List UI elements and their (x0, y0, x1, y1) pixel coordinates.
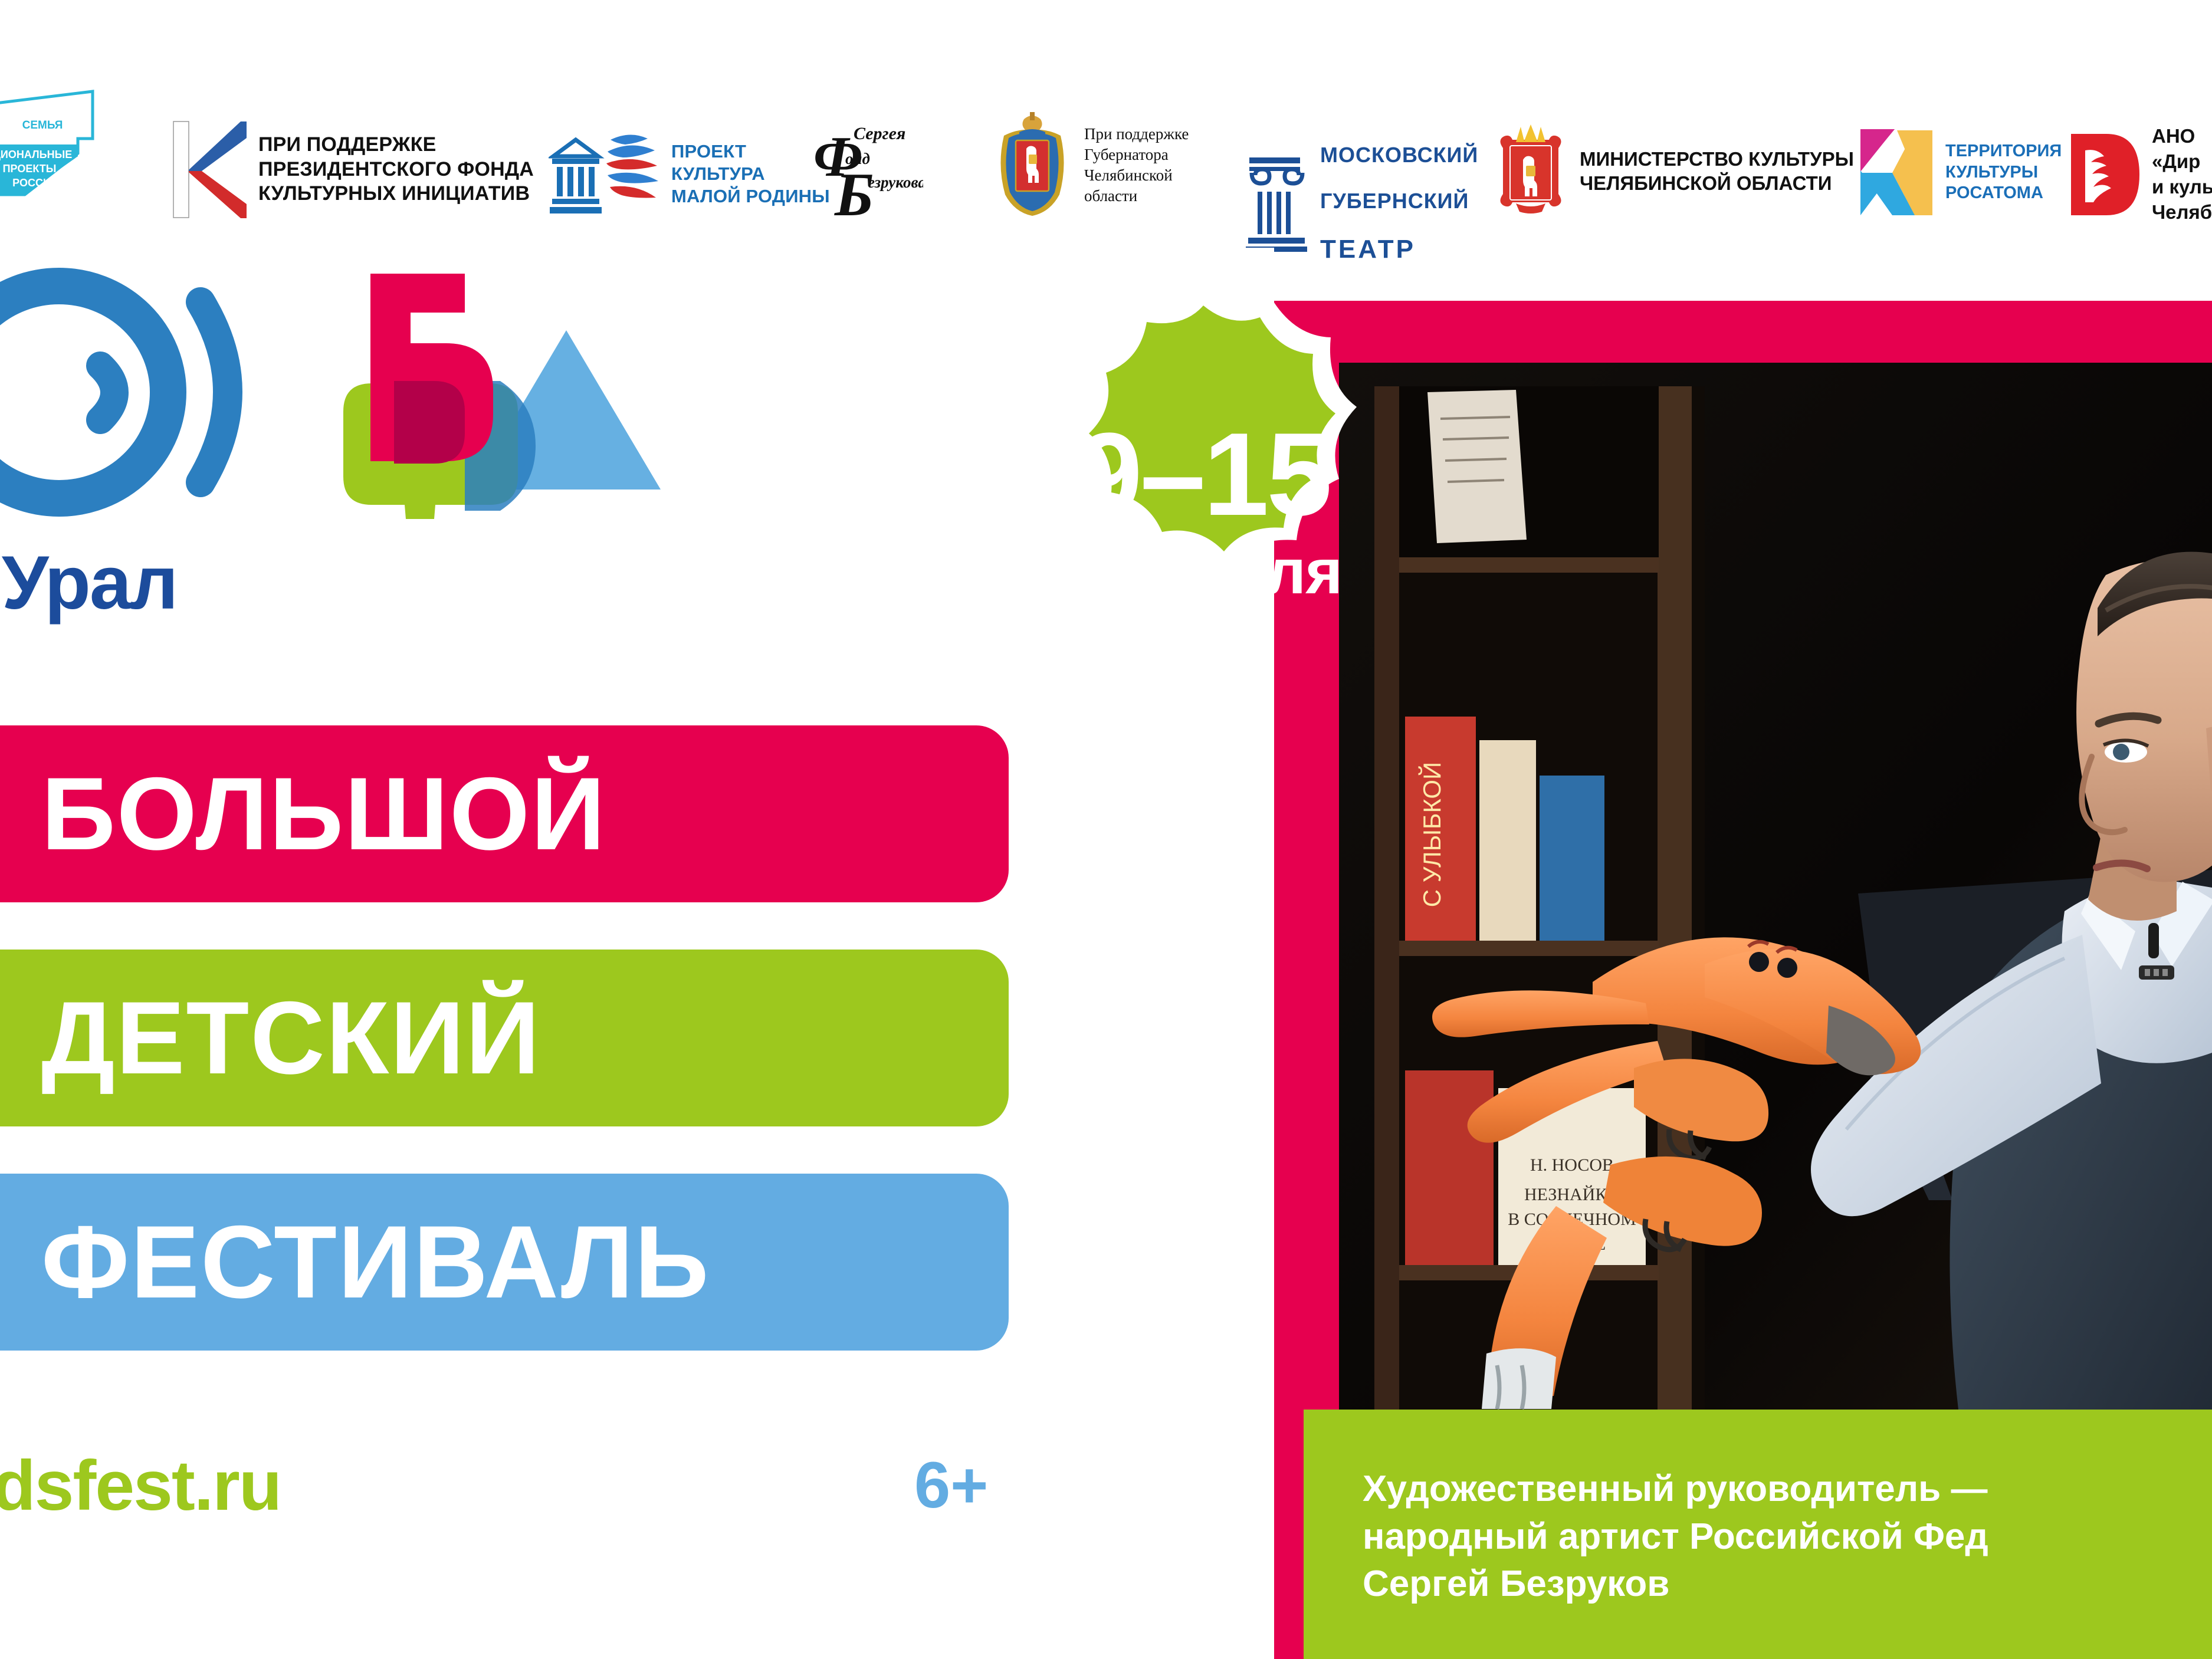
chelyabinsk-coat-of-arms-icon (991, 112, 1074, 218)
sponsor-label-presidential-fund: ПРИ ПОДДЕРЖКЕ ПРЕЗИДЕНТСКОГО ФОНДА КУЛЬТ… (258, 133, 534, 206)
svg-text:онд: онд (845, 150, 870, 167)
banner-detskiy: ДЕТСКИЙ (0, 950, 1009, 1126)
svg-text:СЕМЬЯ: СЕМЬЯ (22, 119, 63, 132)
date-month: февраля (1065, 534, 1342, 608)
date-badge: 9–15 февраля (985, 277, 1422, 749)
svg-text:РОССИИ: РОССИИ (12, 177, 58, 189)
mgt-line-1: МОСКОВСКИЙ (1320, 144, 1478, 167)
banner-festival: ФЕСТИВАЛЬ (0, 1174, 1009, 1351)
banner-bolshoy: БОЛЬШОЙ (0, 725, 1009, 902)
stage-photo: С УЛЫБКОЙ Н. НОСОВ НЕЗНАЙКА В СОЛНЕЧНОМ … (1339, 363, 2212, 1410)
sponsor-logo-ano-direkcia: АНО «Дир и культур Челябинс (2067, 124, 2212, 225)
ano-d-icon (2067, 130, 2141, 219)
banner-label-bolshoy: БОЛЬШОЙ (41, 755, 606, 873)
caption-line-1: Художественный руководитель — (1363, 1466, 2212, 1513)
festival-subtitle: ный Урал (0, 540, 177, 626)
art-director-caption: Художественный руководитель — народный а… (1304, 1410, 2212, 1659)
caption-line-2: народный артист Российской Фед (1363, 1513, 2212, 1561)
national-projects-icon: СЕМЬЯ НАЦИОНАЛЬНЫЕ ПРОЕКТЫ РОССИИ (0, 83, 113, 201)
festival-echo-logo (0, 265, 708, 519)
chelyabinsk-region-emblem-icon (1492, 121, 1569, 221)
sponsor-logo-national-projects: СЕМЬЯ НАЦИОНАЛЬНЫЕ ПРОЕКТЫ РОССИИ (0, 83, 113, 201)
mgt-line-3: ТЕАТР (1320, 235, 1478, 264)
sponsor-label-ministry-of-culture: МИНИСТЕРСТВО КУЛЬТУРЫ ЧЕЛЯБИНСКОЙ ОБЛАСТ… (1580, 147, 1854, 196)
sponsor-label-kultura-maloy-rodiny: ПРОЕКТ КУЛЬТУРА МАЛОЙ РОДИНЫ (671, 140, 830, 207)
sponsor-label-moscow-gubernsky-theatre: МОСКОВСКИЙ ГУБЕРНСКИЙ ТЕАТР (1320, 121, 1478, 287)
sponsor-logo-bezrukov-fund: Ф Б Сергея онд езрукова (811, 112, 923, 218)
age-rating-badge: 6+ (914, 1448, 988, 1523)
svg-text:Н. НОСОВ: Н. НОСОВ (1530, 1155, 1614, 1175)
sponsor-label-rosatom-culture: ТЕРРИТОРИЯ КУЛЬТУРЫ РОСАТОМА (1945, 141, 2062, 205)
caption-line-3: Сергей Безруков (1363, 1561, 2212, 1608)
sponsor-logo-strip: СЕМЬЯ НАЦИОНАЛЬНЫЕ ПРОЕКТЫ РОССИИ ПРИ ПО… (0, 0, 2212, 248)
banner-label-detskiy: ДЕТСКИЙ (41, 979, 541, 1098)
sponsor-label-ano-direkcia: АНО «Дир и культур Челябинс (2152, 124, 2212, 225)
svg-text:езрукова: езрукова (868, 173, 923, 191)
echo-logo-icon (0, 265, 708, 519)
svg-text:НАЦИОНАЛЬНЫЕ: НАЦИОНАЛЬНЫЕ (0, 149, 72, 160)
sponsor-logo-presidential-fund: ПРИ ПОДДЕРЖКЕ ПРЕЗИДЕНТСКОГО ФОНДА КУЛЬТ… (171, 118, 534, 221)
sponsor-logo-rosatom-culture: ТЕРРИТОРИЯ КУЛЬТУРЫ РОСАТОМА (1858, 127, 2062, 218)
sponsor-logo-ministry-of-culture: МИНИСТЕРСТВО КУЛЬТУРЫ ЧЕЛЯБИНСКОЙ ОБЛАСТ… (1492, 121, 1854, 221)
sponsor-logo-chelyabinsk-governor: При поддержке Губернатора Челябинской об… (991, 112, 1189, 218)
bezrukov-fund-monogram-icon: Ф Б Сергея онд езрукова (811, 112, 923, 218)
date-badge-text: 9–15 февраля (985, 277, 1422, 749)
svg-text:ПРОЕКТЫ: ПРОЕКТЫ (3, 163, 57, 175)
photo-illustration: С УЛЫБКОЙ Н. НОСОВ НЕЗНАЙКА В СОЛНЕЧНОМ … (1339, 363, 2212, 1410)
presidential-fund-k-icon (171, 118, 248, 221)
website-url[interactable]: dkidsfest.ru (0, 1445, 281, 1526)
sponsor-label-chelyabinsk-governor: При поддержке Губернатора Челябинской об… (1084, 124, 1189, 206)
sponsor-logo-moscow-gubernsky-theatre: МОСКОВСКИЙ ГУБЕРНСКИЙ ТЕАТР (1245, 121, 1478, 287)
ionic-column-icon (1245, 155, 1310, 252)
temple-tricolor-icon (549, 127, 661, 221)
svg-text:С УЛЫБКОЙ: С УЛЫБКОЙ (1417, 762, 1446, 907)
mgt-line-2: ГУБЕРНСКИЙ (1320, 190, 1478, 213)
banner-label-festival: ФЕСТИВАЛЬ (41, 1203, 710, 1322)
svg-text:Сергея: Сергея (854, 124, 905, 143)
rosatom-k-icon (1858, 127, 1935, 218)
sponsor-logo-kultura-maloy-rodiny: ПРОЕКТ КУЛЬТУРА МАЛОЙ РОДИНЫ (549, 127, 830, 221)
date-range: 9–15 (1077, 419, 1330, 531)
